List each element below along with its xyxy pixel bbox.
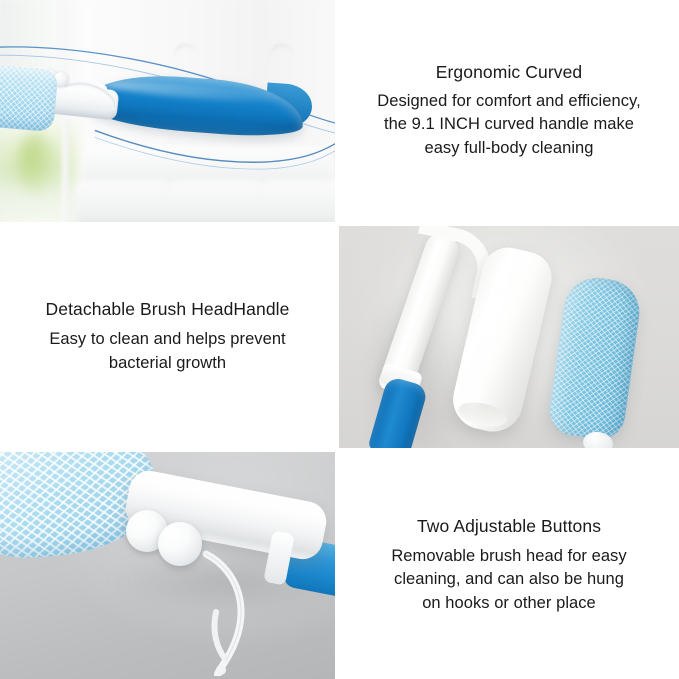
- hanging-cord-loop: [196, 548, 268, 676]
- feature-text-block: Ergonomic Curved Designed for comfort an…: [339, 0, 679, 222]
- feature-text-block: Two Adjustable Buttons Removable brush h…: [339, 452, 679, 679]
- feature-body-line: easy full-body cleaning: [377, 137, 641, 160]
- feature-body-line: cleaning, and can also be hung: [391, 568, 626, 591]
- feature-body-line: Removable brush head for easy: [391, 545, 626, 568]
- adjustable-button: [158, 522, 202, 566]
- hanging-cord: [62, 76, 122, 110]
- feature-body: Designed for comfort and efficiency, the…: [377, 90, 641, 160]
- feature-body-line: bacterial growth: [49, 352, 285, 375]
- feature-headline: Ergonomic Curved: [436, 62, 583, 83]
- feature-body-line: the 9.1 INCH curved handle make: [377, 113, 641, 136]
- feature-headline: Two Adjustable Buttons: [417, 516, 601, 537]
- product-infographic: Ergonomic Curved Designed for comfort an…: [0, 0, 679, 679]
- feature-body-line: Designed for comfort and efficiency,: [377, 90, 641, 113]
- bath-brush-product: [0, 48, 339, 168]
- feature-headline: Detachable Brush HeadHandle: [46, 299, 290, 320]
- feature-body-line: Easy to clean and helps prevent: [49, 328, 285, 351]
- mesh-sponge-head: [0, 62, 59, 132]
- panel-text-buttons: Two Adjustable Buttons Removable brush h…: [339, 452, 679, 679]
- panel-photo-ergonomic: [0, 0, 339, 226]
- panel-text-detachable: Detachable Brush HeadHandle Easy to clea…: [0, 226, 339, 452]
- feature-body: Easy to clean and helps prevent bacteria…: [49, 328, 285, 375]
- panel-photo-parts: [339, 226, 679, 452]
- panel-text-ergonomic: Ergonomic Curved Designed for comfort an…: [339, 0, 679, 226]
- feature-text-block: Detachable Brush HeadHandle Easy to clea…: [0, 226, 335, 448]
- feature-body-line: on hooks or other place: [391, 592, 626, 615]
- feature-body: Removable brush head for easy cleaning, …: [391, 545, 626, 615]
- panel-photo-buttons: [0, 452, 339, 679]
